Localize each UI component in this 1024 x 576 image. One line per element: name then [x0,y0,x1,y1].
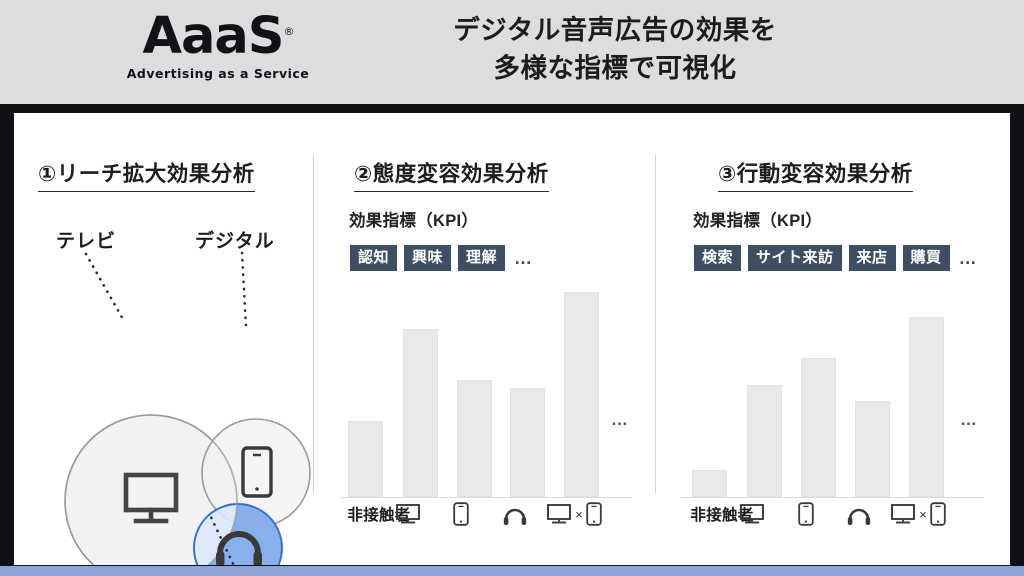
section-heading-behavior: ③行動変容効果分析 [718,157,913,192]
logo-wordmark: AaaS® [118,10,318,64]
kpi-title-attitude: 効果指標（KPI） [349,207,478,231]
attitude-bar-chart: … [340,283,640,498]
behavior-bar-chart: … [682,283,992,498]
header-band: AaaS® Advertising as a Service デジタル音声広告の… [0,0,1024,104]
headphone-icon [502,503,528,525]
content-panel: ①リーチ拡大効果分析 ②態度変容効果分析 ③行動変容効果分析 テレビ デジタル … [14,113,1010,565]
page-title: デジタル音声広告の効果を 多様な指標で可視化 [330,12,900,87]
kpi-badge-kobai[interactable]: 購買 [903,245,950,271]
behavior-bar-4 [909,317,944,497]
behavior-bar-3 [855,401,890,497]
smartphone-icon [586,502,602,526]
attitude-bar-0 [348,421,383,497]
kpi-badge-ninchi[interactable]: 認知 [350,245,397,271]
headphone-icon [846,503,872,525]
monitor-icon [890,503,916,525]
kpi-badges-behavior: 検索 サイト来訪 来店 購買 … [694,245,979,271]
attitude-chart-ellipsis: … [611,410,630,430]
attitude-bar-4 [564,292,599,497]
kpi-title-behavior: 効果指標（KPI） [693,207,822,231]
smartphone-icon [453,502,469,526]
kpi-badge-kensaku[interactable]: 検索 [694,245,741,271]
monitor-icon [395,503,421,525]
logo-tagline: Advertising as a Service [118,66,318,81]
kpi-badge-raiten[interactable]: 来店 [849,245,896,271]
page-title-line1: デジタル音声広告の効果を [330,12,900,50]
monitor-icon [739,503,765,525]
behavior-plot-area: … [682,283,984,498]
attitude-bar-1 [403,329,438,497]
attitude-tick-1 [385,501,431,527]
slide-root: AaaS® Advertising as a Service デジタル音声広告の… [0,0,1024,576]
attitude-tick-2 [438,501,484,527]
venn-diagram-section: テレビ デジタル デジタル音声 [14,113,330,565]
kpi-ellipsis-behavior: … [957,248,979,269]
section-heading-attitude: ②態度変容効果分析 [354,157,549,192]
kpi-badge-rikai[interactable]: 理解 [458,245,505,271]
multiply-icon: × [575,507,583,522]
attitude-tick-4: × [541,501,607,527]
kpi-badge-kyomi[interactable]: 興味 [404,245,451,271]
kpi-ellipsis-attitude: … [512,248,534,269]
attitude-plot-area: … [340,283,632,498]
multiply-icon: × [919,507,927,522]
smartphone-icon [930,502,946,526]
registered-mark-icon: ® [284,25,294,38]
brand-logo: AaaS® Advertising as a Service [118,10,318,81]
smartphone-icon [798,502,814,526]
page-title-line2: 多様な指標で可視化 [330,50,900,88]
monitor-icon [546,503,572,525]
attitude-tick-3 [492,501,538,527]
column-divider-2 [655,155,656,493]
behavior-tick-4: × [885,501,951,527]
behavior-chart-ellipsis: … [960,410,979,430]
behavior-bar-1 [747,385,782,497]
behavior-tick-3 [836,501,882,527]
venn-svg [14,113,330,565]
attitude-bar-2 [457,380,492,497]
kpi-badge-site[interactable]: サイト来訪 [748,245,842,271]
behavior-bar-2 [801,358,836,497]
attitude-bar-3 [510,388,545,497]
kpi-badges-attitude: 認知 興味 理解 … [350,245,534,271]
behavior-tick-1 [729,501,775,527]
leader-line-tv [86,254,124,321]
logo-word-text: AaaS [142,7,283,66]
behavior-bar-0 [692,470,727,497]
behavior-tick-2 [783,501,829,527]
leader-line-digital [242,253,246,327]
